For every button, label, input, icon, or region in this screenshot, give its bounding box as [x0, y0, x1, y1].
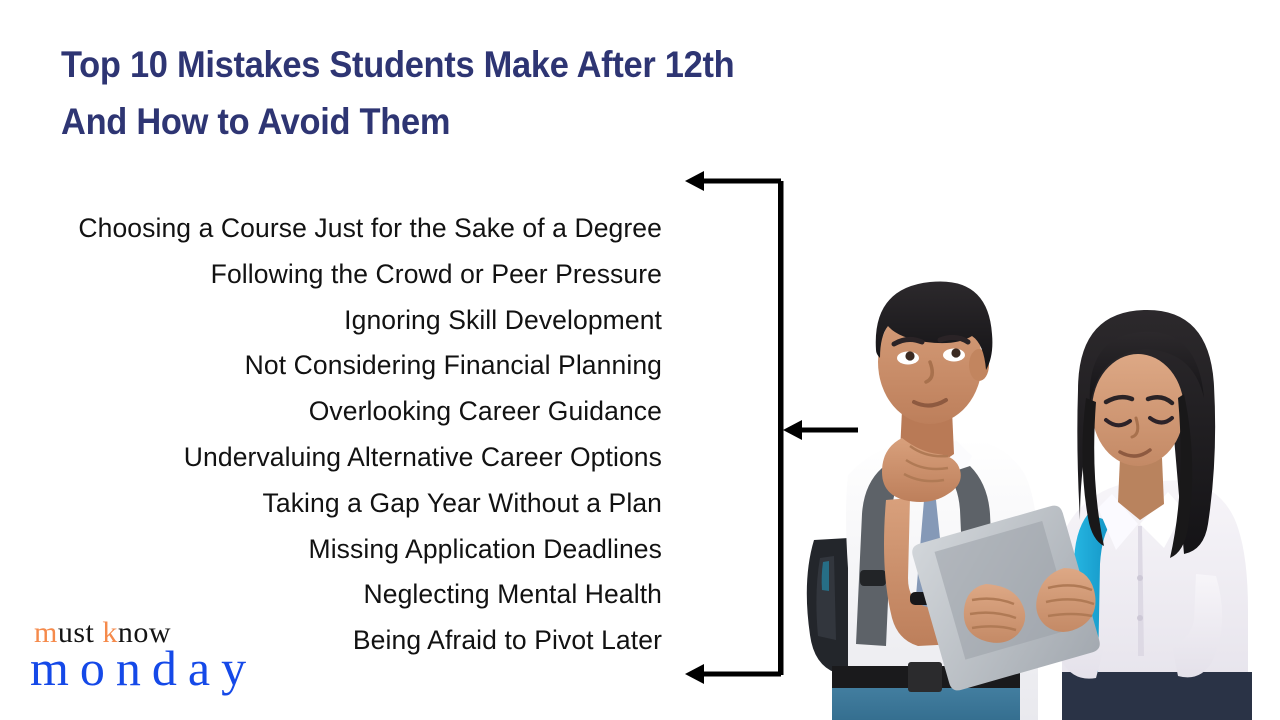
girl-face: [1092, 354, 1184, 466]
title-line-1: Top 10 Mistakes Students Make After 12th: [61, 36, 898, 93]
arrow-head-top-icon: [685, 171, 704, 191]
logo-bottom-line: monday: [30, 642, 257, 694]
boy-pupil-right: [951, 348, 960, 357]
students-photo: [790, 270, 1280, 720]
poster-canvas: Top 10 Mistakes Students Make After 12th…: [0, 0, 1280, 720]
list-item: Following the Crowd or Peer Pressure: [0, 252, 662, 298]
boy-strap-buckle-left: [860, 570, 886, 586]
page-title: Top 10 Mistakes Students Make After 12th…: [61, 36, 961, 150]
boy-pupil-left: [905, 351, 914, 360]
bracket-spine: [778, 181, 784, 675]
list-item: Choosing a Course Just for the Sake of a…: [0, 206, 662, 252]
arrow-head-bottom-icon: [685, 664, 704, 684]
mistakes-list: Choosing a Course Just for the Sake of a…: [0, 206, 662, 664]
list-item: Not Considering Financial Planning: [0, 343, 662, 389]
logo[interactable]: must know monday: [30, 618, 290, 698]
bracket-arm-bottom: [691, 672, 781, 677]
list-item: Undervaluing Alternative Career Options: [0, 435, 662, 481]
list-item: Ignoring Skill Development: [0, 298, 662, 344]
title-line-2: And How to Avoid Them: [61, 93, 898, 150]
list-item: Missing Application Deadlines: [0, 527, 662, 573]
list-item: Taking a Gap Year Without a Plan: [0, 481, 662, 527]
boy-backpack-trim: [822, 561, 829, 591]
girl-button-1: [1137, 575, 1143, 581]
list-item: Overlooking Career Guidance: [0, 389, 662, 435]
students-illustration: [790, 270, 1280, 720]
list-item: Neglecting Mental Health: [0, 572, 662, 618]
girl-skirt: [1062, 672, 1252, 720]
bracket-arm-top: [691, 179, 781, 184]
girl-button-2: [1137, 615, 1143, 621]
boy-belt-buckle: [908, 662, 942, 692]
